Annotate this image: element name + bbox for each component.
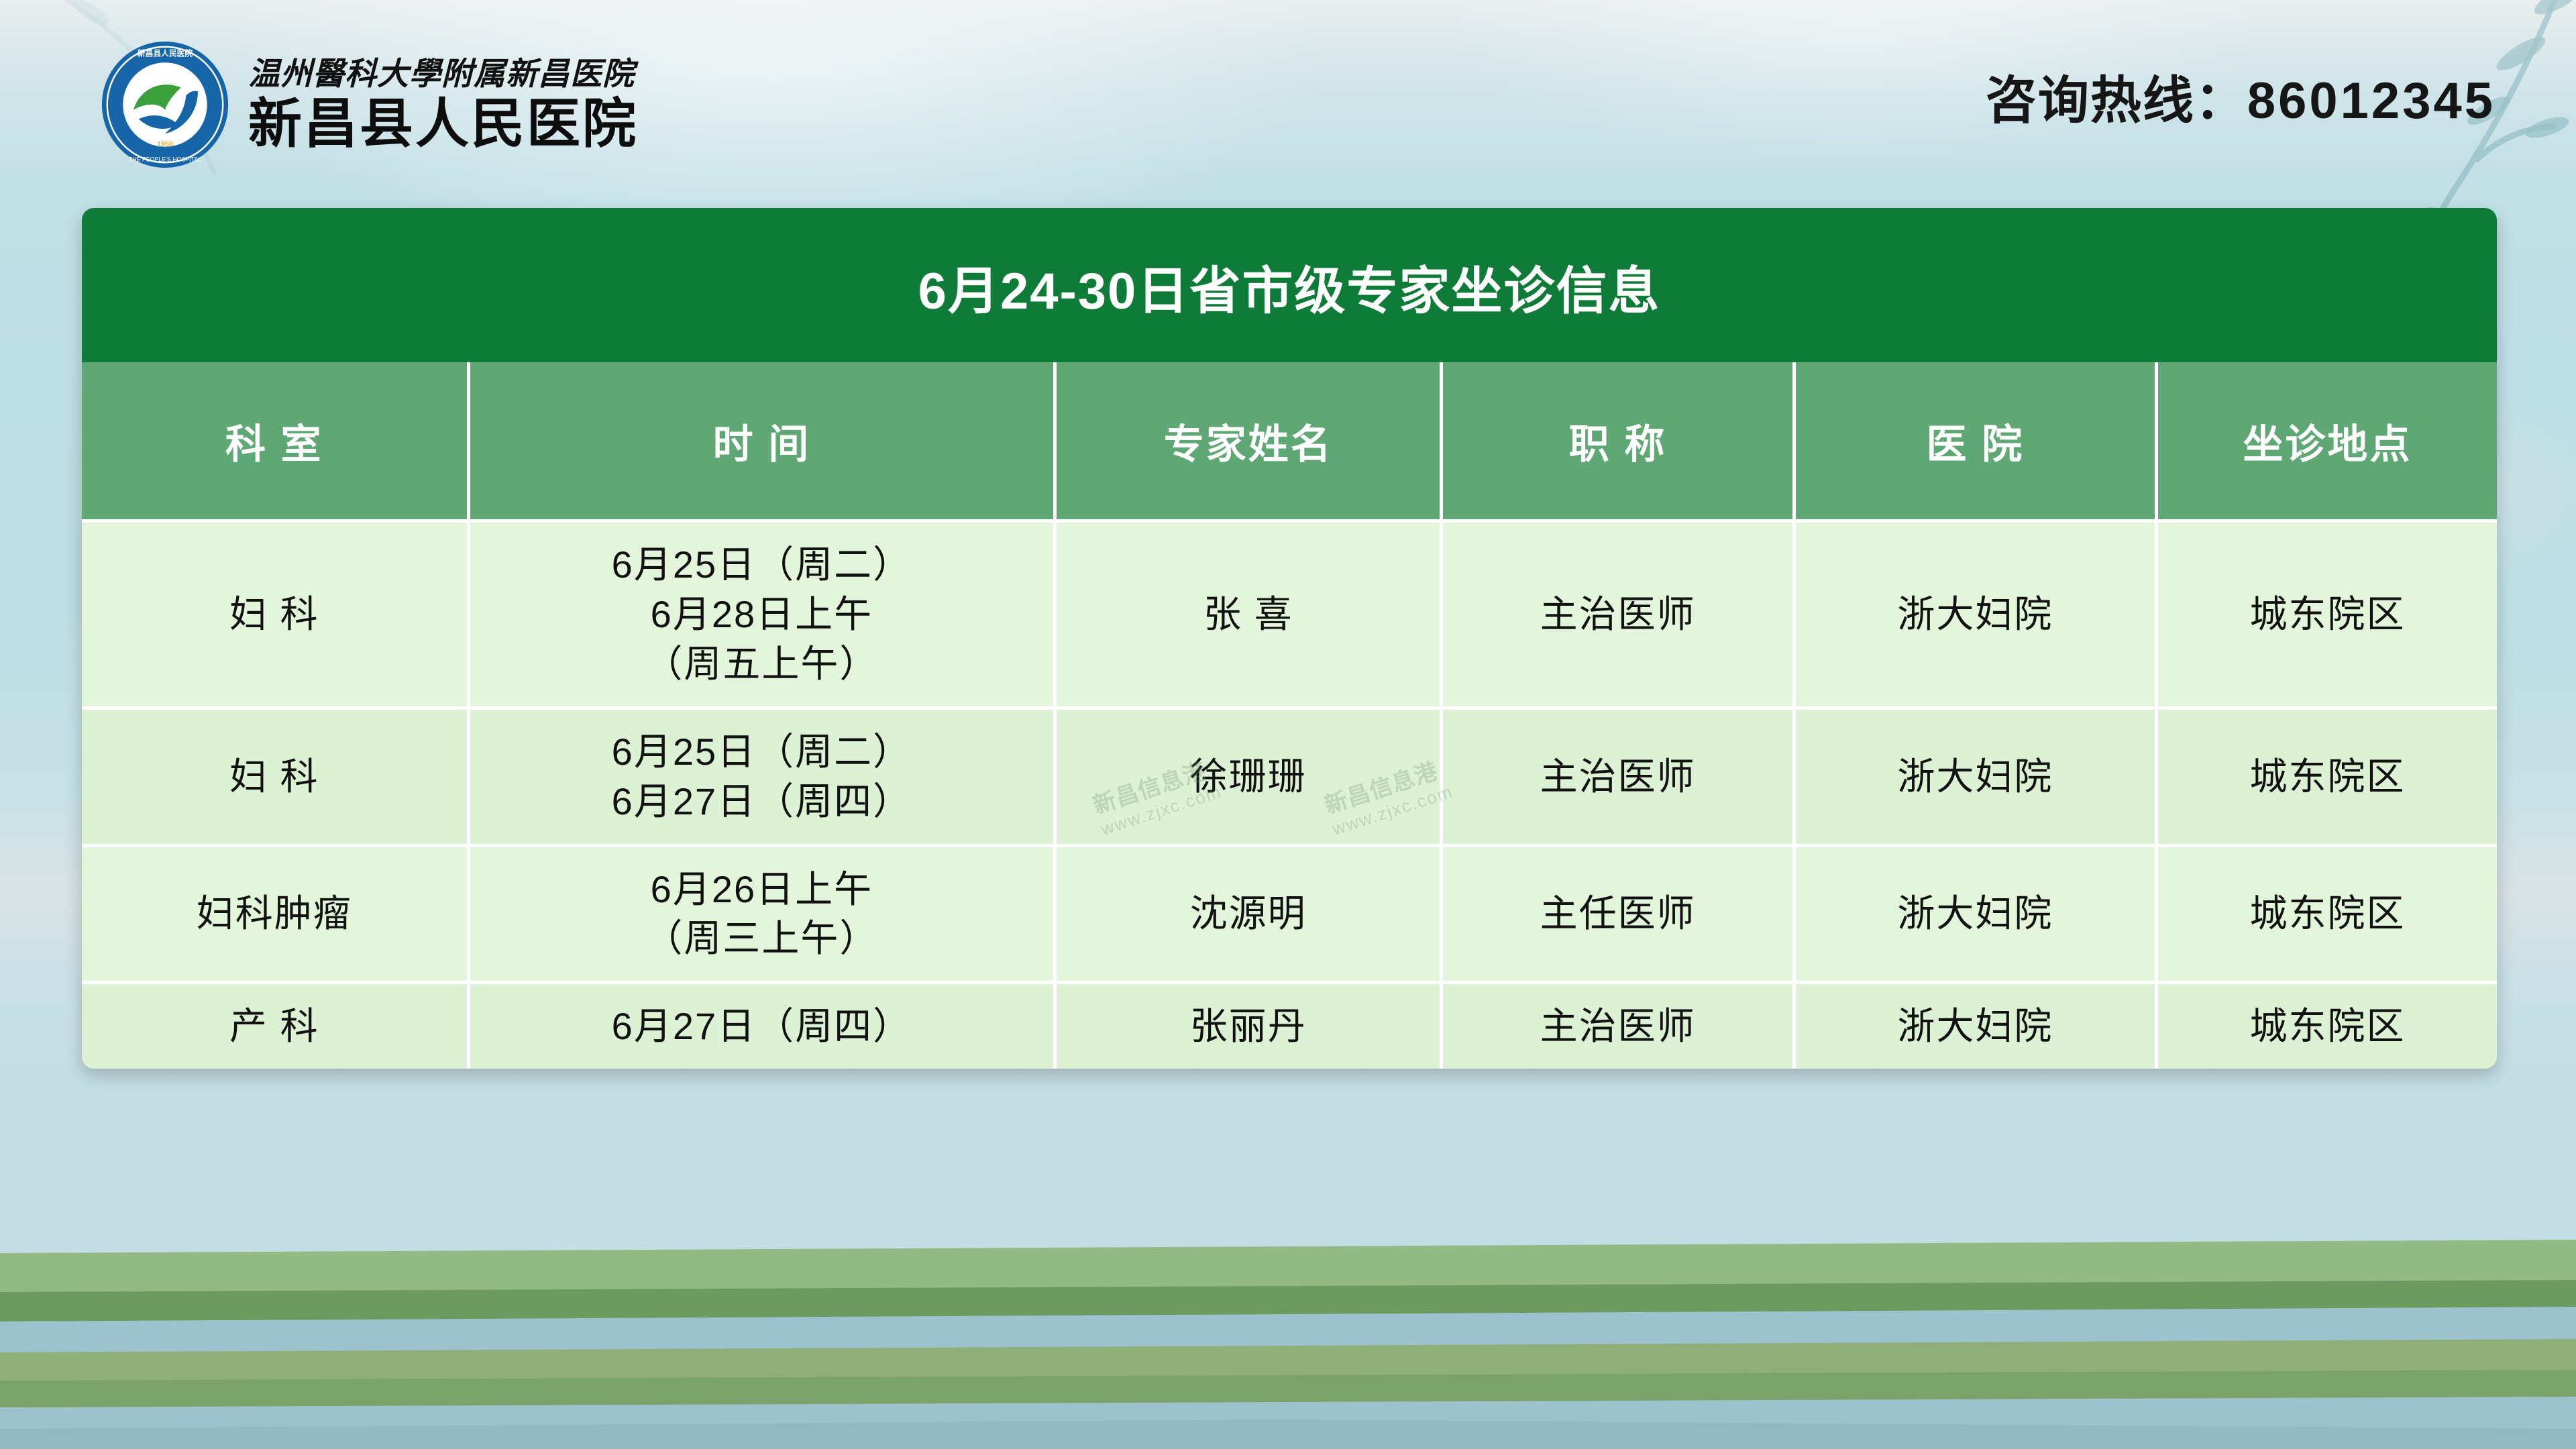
time-line: （周五上午） [476,639,1049,689]
cell-time: 6月27日（周四） [468,983,1055,1069]
cell-dept: 妇科肿瘤 [82,845,468,983]
brand-block: 新昌县人民医院 1950 THE PEOPLE'S HOSPITAL 温州醫科大… [99,39,638,170]
cell-rank: 主治医师 [1442,708,1794,845]
table-row: 妇 科 6月25日（周二） 6月28日上午 （周五上午） 张 喜 主治医师 浙大… [82,521,2497,708]
table-row: 妇科肿瘤 6月26日上午 （周三上午） 沈源明 主任医师 浙大妇院 城东院区 [82,845,2497,983]
cell-hospital: 浙大妇院 [1794,521,2156,708]
cell-dept: 妇 科 [82,521,468,708]
time-line: 6月26日上午 [476,865,1049,914]
hotline-label: 咨询热线： [1986,72,2247,129]
column-header-time: 时 间 [468,362,1055,521]
table-header-row: 科 室 时 间 专家姓名 职 称 医 院 坐诊地点 [82,362,2497,521]
hotline: 咨询热线：86012345 [1986,59,2495,133]
hospital-logo-icon: 新昌县人民医院 1950 THE PEOPLE'S HOSPITAL [99,39,231,170]
poster-root: 新昌县人民医院 1950 THE PEOPLE'S HOSPITAL 温州醫科大… [0,0,2576,1449]
cell-name: 张 喜 [1055,521,1442,708]
cell-place: 城东院区 [2156,983,2497,1069]
cell-hospital: 浙大妇院 [1794,845,2156,983]
schedule-table: 科 室 时 间 专家姓名 职 称 医 院 坐诊地点 妇 科 6月25日（周二） … [82,362,2497,1069]
time-line: 6月25日（周二） [476,540,1049,590]
time-line: 6月27日（周四） [476,1002,1049,1051]
column-header-dept: 科 室 [82,362,468,521]
cell-time: 6月25日（周二） 6月27日（周四） [468,708,1055,845]
schedule-title: 6月24-30日省市级专家坐诊信息 [82,208,2497,362]
cell-place: 城东院区 [2156,521,2497,708]
page-header: 新昌县人民医院 1950 THE PEOPLE'S HOSPITAL 温州醫科大… [0,0,2576,201]
column-header-hospital: 医 院 [1794,362,2156,521]
cell-rank: 主任医师 [1442,845,1794,983]
cell-hospital: 浙大妇院 [1794,983,2156,1069]
column-header-place: 坐诊地点 [2156,362,2497,521]
brand-title: 新昌县人民医院 [248,97,638,151]
cell-dept: 妇 科 [82,708,468,845]
cell-name: 沈源明 [1055,845,1442,983]
cell-name: 张丽丹 [1055,983,1442,1069]
table-row: 产 科 6月27日（周四） 张丽丹 主治医师 浙大妇院 城东院区 [82,983,2497,1069]
svg-text:THE PEOPLE'S HOSPITAL: THE PEOPLE'S HOSPITAL [129,156,201,162]
cell-name: 徐珊珊 [1055,708,1442,845]
column-header-rank: 职 称 [1442,362,1794,521]
column-header-name: 专家姓名 [1055,362,1442,521]
background-landscape [0,1228,2576,1449]
cell-hospital: 浙大妇院 [1794,708,2156,845]
svg-text:新昌县人民医院: 新昌县人民医院 [138,48,193,58]
cell-time: 6月25日（周二） 6月28日上午 （周五上午） [468,521,1055,708]
hotline-number: 86012345 [2247,72,2495,129]
time-line: 6月27日（周四） [476,777,1049,826]
time-line: 6月25日（周二） [476,727,1049,777]
cell-rank: 主治医师 [1442,521,1794,708]
time-line: （周三上午） [476,914,1049,963]
schedule-card: 6月24-30日省市级专家坐诊信息 科 室 时 间 专家姓名 职 称 医 院 坐… [82,208,2497,1069]
table-row: 妇 科 6月25日（周二） 6月27日（周四） 徐珊珊 主治医师 浙大妇院 城东… [82,708,2497,845]
cell-place: 城东院区 [2156,845,2497,983]
cell-dept: 产 科 [82,983,468,1069]
cell-place: 城东院区 [2156,708,2497,845]
time-line: 6月28日上午 [476,590,1049,639]
cell-rank: 主治医师 [1442,983,1794,1069]
cell-time: 6月26日上午 （周三上午） [468,845,1055,983]
brand-subtitle: 温州醫科大學附属新昌医院 [248,59,638,91]
svg-text:1950: 1950 [157,141,173,149]
